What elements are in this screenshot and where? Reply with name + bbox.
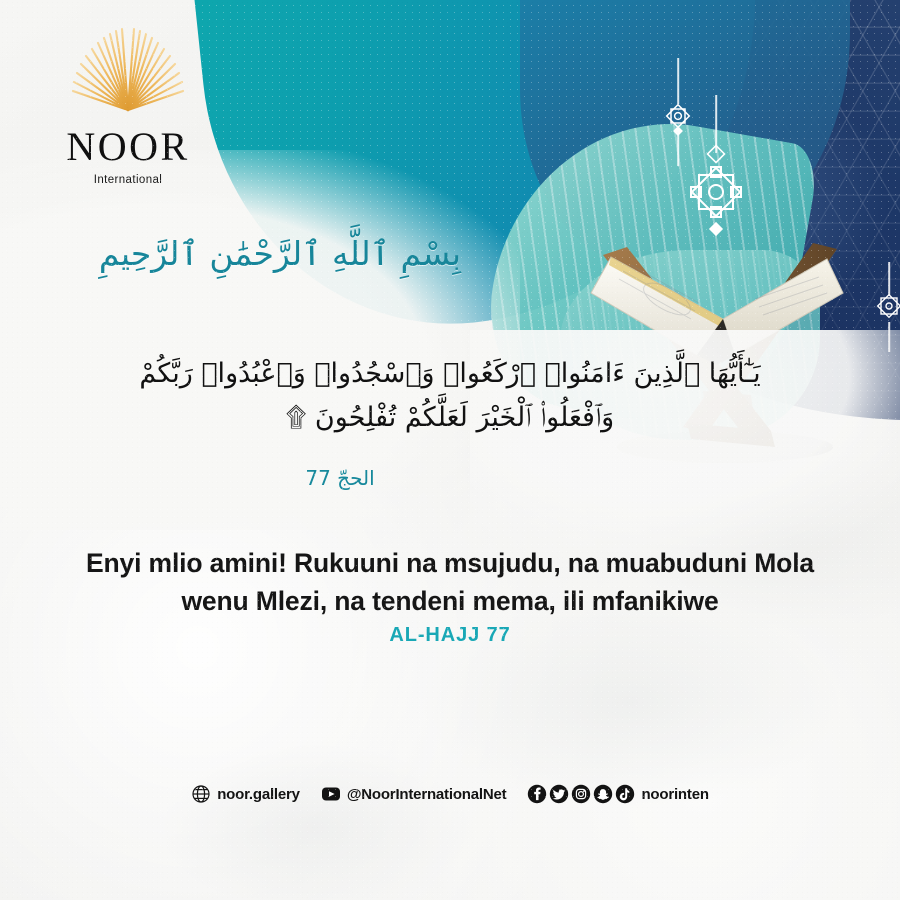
social-icon-list bbox=[527, 784, 635, 804]
youtube-handle: @NoorInternationalNet bbox=[347, 786, 507, 803]
surah-reference-english: AL-HAJJ 77 bbox=[0, 624, 900, 647]
social-group[interactable]: noorinten bbox=[527, 784, 708, 804]
youtube-icon bbox=[321, 784, 341, 804]
ayah-arabic: يَـٰٓأَيُّهَا ٱلَّذِينَ ءَامَنُوا۟ ٱرْكَ… bbox=[40, 352, 860, 439]
quran-verse-poster: NOOR International بِسْمِ ٱللَّهِ ٱلرَّح… bbox=[0, 0, 900, 900]
twitter-icon[interactable] bbox=[549, 784, 569, 804]
star-icon bbox=[685, 161, 747, 223]
translation-swahili: Enyi mlio amini! Rukuuni na msujudu, na … bbox=[45, 545, 855, 620]
youtube-group[interactable]: @NoorInternationalNet bbox=[321, 784, 507, 804]
translation-line-1: Enyi mlio amini! Rukuuni na msujudu, na … bbox=[86, 548, 814, 578]
social-handle: noorinten bbox=[641, 786, 708, 803]
website-group[interactable]: noor.gallery bbox=[191, 784, 300, 804]
surah-reference-arabic: الحجّ 77 bbox=[0, 466, 680, 490]
ayah-line-2: وَٱفْعَلُوا۟ ٱلْخَيْرَ لَعَلَّكُمْ تُفْل… bbox=[40, 396, 860, 440]
ayah-line-1: يَـٰٓأَيُّهَا ٱلَّذِينَ ءَامَنُوا۟ ٱرْكَ… bbox=[139, 358, 760, 389]
website-label: noor.gallery bbox=[217, 786, 300, 803]
translation-line-2: wenu Mlezi, na tendeni mema, ili mfaniki… bbox=[181, 586, 718, 616]
brand-name: NOOR bbox=[33, 127, 223, 167]
tiktok-icon[interactable] bbox=[615, 784, 635, 804]
diamond-icon bbox=[671, 124, 685, 138]
facebook-icon[interactable] bbox=[527, 784, 547, 804]
snapchat-icon[interactable] bbox=[593, 784, 613, 804]
instagram-icon[interactable] bbox=[571, 784, 591, 804]
globe-icon bbox=[191, 784, 211, 804]
footer-social-bar: noor.gallery @NoorInternationalNet bbox=[0, 784, 900, 804]
brand-logo: NOOR International bbox=[33, 24, 223, 186]
sunburst-icon bbox=[64, 24, 192, 116]
brand-subtitle: International bbox=[33, 174, 223, 186]
star-icon bbox=[873, 290, 900, 322]
bismillah-calligraphy: بِسْمِ ٱللَّهِ ٱلرَّحْمَٰنِ ٱلرَّحِيمِ bbox=[0, 232, 560, 277]
